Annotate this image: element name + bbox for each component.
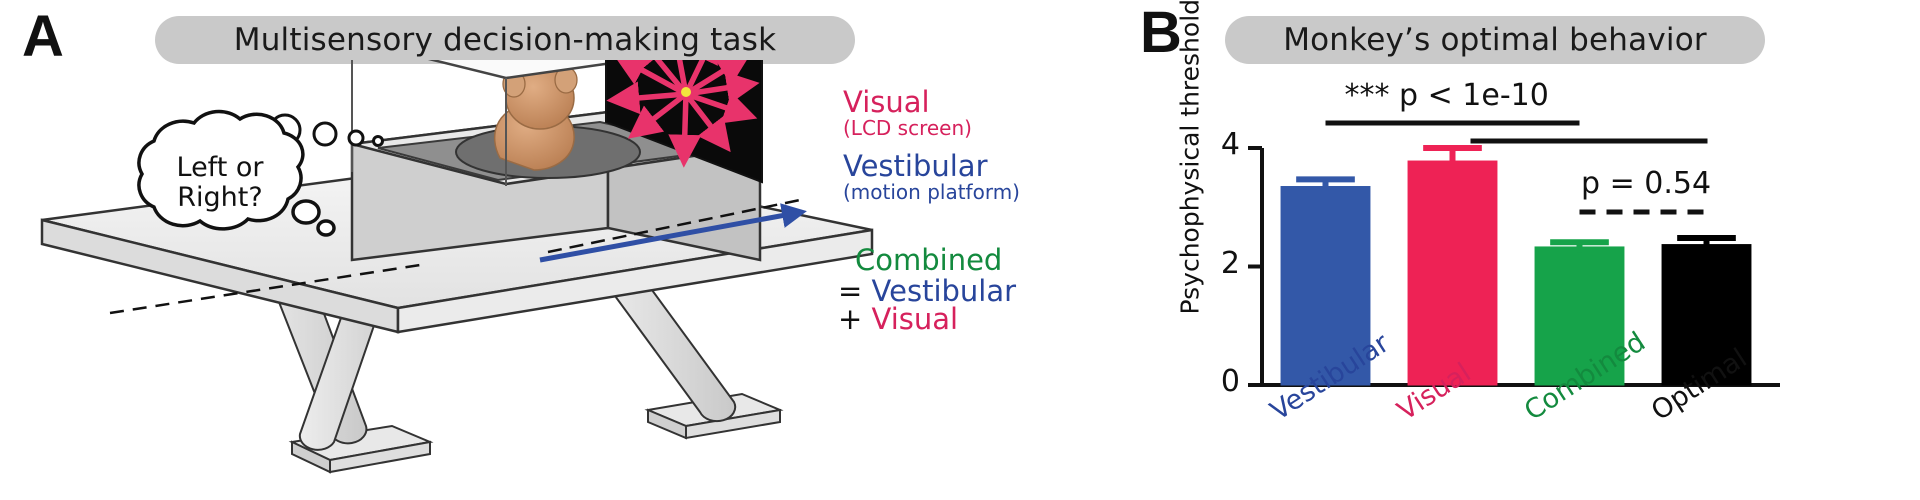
significance-label: p = 0.54 xyxy=(1581,166,1711,201)
monkey-figure xyxy=(495,67,577,170)
bar-chart: Psychophysical threshold (°) 024Vestibul… xyxy=(1130,0,1920,500)
y-tick-label: 4 xyxy=(1200,127,1240,162)
panel-a-letter: A xyxy=(22,8,64,66)
chart-canvas xyxy=(1130,0,1920,500)
thought-line-2: Right? xyxy=(177,183,262,213)
thought-bubble: Left or Right? xyxy=(100,108,340,258)
bar xyxy=(1408,161,1497,385)
label-visual-sub: (LCD screen) xyxy=(843,118,972,139)
y-tick-label: 2 xyxy=(1200,246,1240,281)
panel-a-title: Multisensory decision-making task xyxy=(155,16,855,64)
significance-label: *** p < 1e-10 xyxy=(1345,78,1549,113)
thought-line-1: Left or xyxy=(177,153,264,183)
bar-group xyxy=(1408,148,1497,385)
label-combined-visual-term: Visual xyxy=(872,302,959,336)
y-tick-label: 0 xyxy=(1200,364,1240,399)
figure-root: A Multisensory decision-making task xyxy=(0,0,1920,500)
label-combined-plus: + Visual xyxy=(838,305,958,335)
plus-operator: + xyxy=(838,302,862,336)
label-combined: Combined xyxy=(855,246,1002,276)
thought-bubble-text: Left or Right? xyxy=(100,108,340,258)
label-vestibular: Vestibular xyxy=(843,152,988,182)
label-visual: Visual xyxy=(843,88,930,118)
panel-a: A Multisensory decision-making task xyxy=(0,0,1130,500)
panel-b: B Monkey’s optimal behavior Psychophysic… xyxy=(1130,0,1920,500)
label-vestibular-sub: (motion platform) xyxy=(843,182,1020,203)
fixation-dot xyxy=(681,87,691,97)
